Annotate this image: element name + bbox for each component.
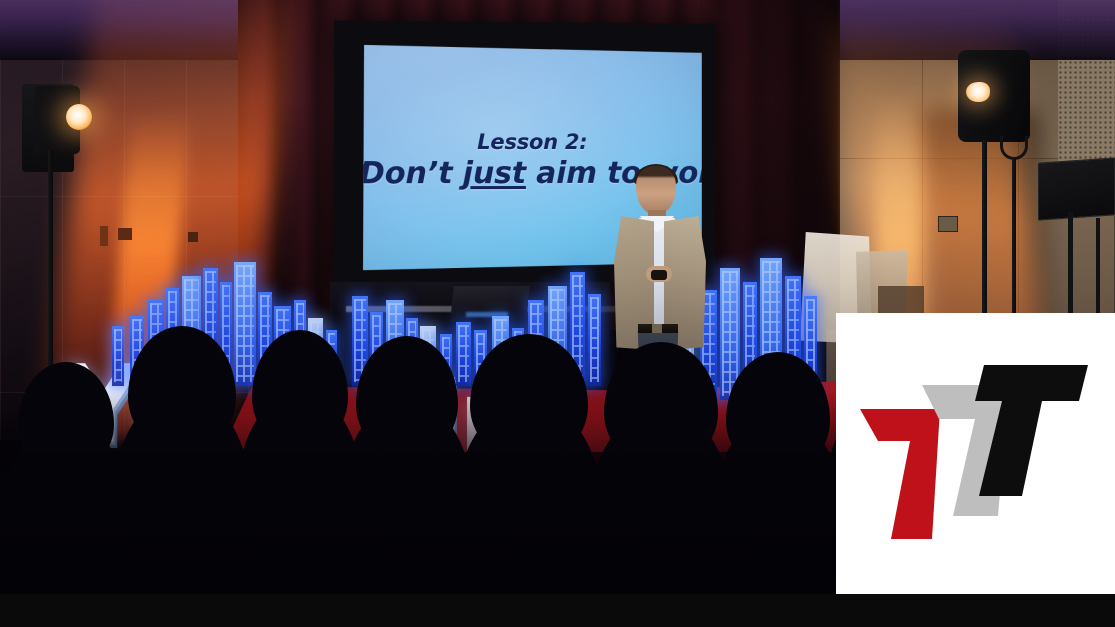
ttt-logo-letter-red <box>860 409 940 539</box>
audience-head <box>252 330 348 446</box>
ttt-logo[interactable] <box>836 313 1115 594</box>
video-frame: Lesson 2: Don’t just aim to work hard Yo… <box>0 0 1115 627</box>
audience-head <box>128 326 236 448</box>
letterbox-bottom <box>0 594 1115 627</box>
speaker-clicker <box>651 270 667 280</box>
audience-head <box>470 334 588 458</box>
audience-head <box>356 336 458 454</box>
audience-head <box>604 342 718 464</box>
speaker-head <box>636 166 676 214</box>
